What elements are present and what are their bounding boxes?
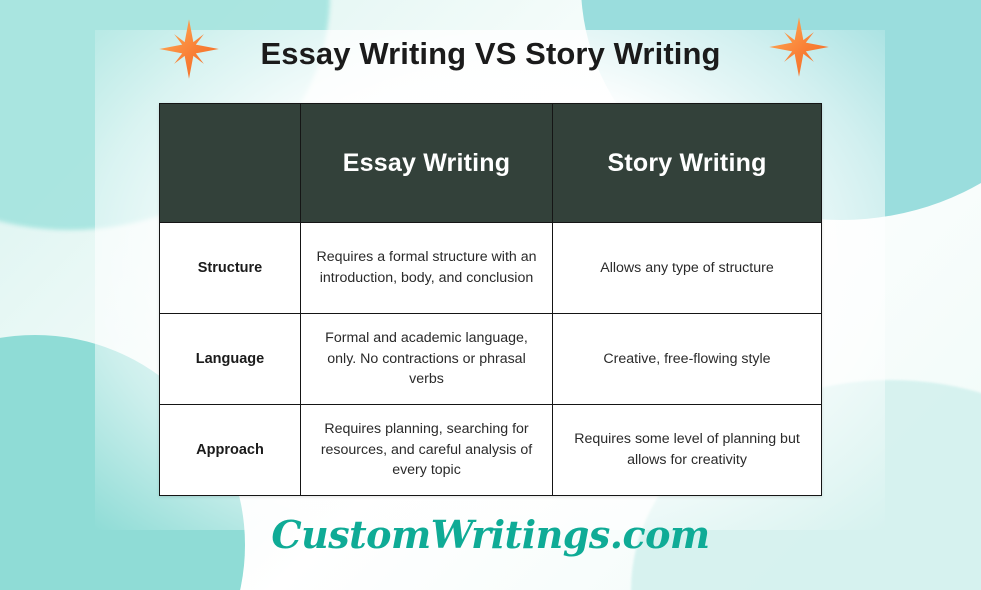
- cell-structure-story: Allows any type of structure: [553, 223, 822, 314]
- cell-approach-essay: Requires planning, searching for resourc…: [301, 405, 553, 496]
- table-row: Structure Requires a formal structure wi…: [160, 223, 822, 314]
- row-label-language: Language: [160, 314, 301, 405]
- cell-approach-story: Requires some level of planning but allo…: [553, 405, 822, 496]
- column-header-story-writing: Story Writing: [553, 104, 822, 223]
- row-label-structure: Structure: [160, 223, 301, 314]
- table-header-row: Essay Writing Story Writing: [160, 104, 822, 223]
- table-header: Essay Writing Story Writing: [160, 104, 822, 223]
- table-row: Language Formal and academic language, o…: [160, 314, 822, 405]
- row-label-approach: Approach: [160, 405, 301, 496]
- comparison-table: Essay Writing Story Writing Structure Re…: [159, 103, 822, 496]
- table-row: Approach Requires planning, searching fo…: [160, 405, 822, 496]
- cell-language-story: Creative, free-flowing style: [553, 314, 822, 405]
- table-body: Structure Requires a formal structure wi…: [160, 223, 822, 496]
- table-corner-cell: [160, 104, 301, 223]
- column-header-essay-writing: Essay Writing: [301, 104, 553, 223]
- page-title: Essay Writing VS Story Writing: [0, 36, 981, 72]
- brand-logo: CustomWritings.com: [0, 512, 981, 557]
- cell-structure-essay: Requires a formal structure with an intr…: [301, 223, 553, 314]
- cell-language-essay: Formal and academic language, only. No c…: [301, 314, 553, 405]
